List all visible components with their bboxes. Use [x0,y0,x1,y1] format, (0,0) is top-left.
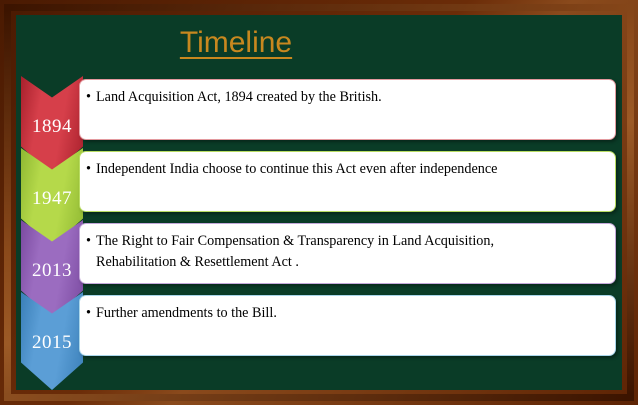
bullet-icon: • [86,87,91,108]
timeline-row: 2015 • Further amendments to the Bill. [16,292,622,378]
slide-frame: Timeline 1894 • Land Acquisition Act, 18… [0,0,638,405]
timeline-content-box[interactable]: • Land Acquisition Act, 1894 created by … [79,79,616,140]
timeline-content-line: The Right to Fair Compensation & Transpa… [96,231,605,252]
timeline-content-line: Independent India choose to continue thi… [96,159,605,180]
timeline-content-box[interactable]: • The Right to Fair Compensation & Trans… [79,223,616,284]
timeline-content-box[interactable]: • Further amendments to the Bill. [79,295,616,356]
bullet-icon: • [86,159,91,180]
timeline-content-line: Further amendments to the Bill. [96,303,605,324]
timeline-content-text: • Land Acquisition Act, 1894 created by … [96,87,605,108]
timeline-content-text: • Independent India choose to continue t… [96,159,605,180]
slide-canvas: Timeline 1894 • Land Acquisition Act, 18… [16,15,622,390]
page-title: Timeline [16,25,456,61]
bullet-icon: • [86,231,91,252]
chevron-icon [21,292,83,390]
bullet-icon: • [86,303,91,324]
timeline-content-line: Land Acquisition Act, 1894 created by th… [96,87,605,108]
timeline-content-line: Rehabilitation & Resettlement Act . [96,252,605,273]
timeline-content-box[interactable]: • Independent India choose to continue t… [79,151,616,212]
timeline-content-text: • The Right to Fair Compensation & Trans… [96,231,605,273]
timeline-content-text: • Further amendments to the Bill. [96,303,605,324]
timeline-marker-2015[interactable]: 2015 [21,292,83,390]
